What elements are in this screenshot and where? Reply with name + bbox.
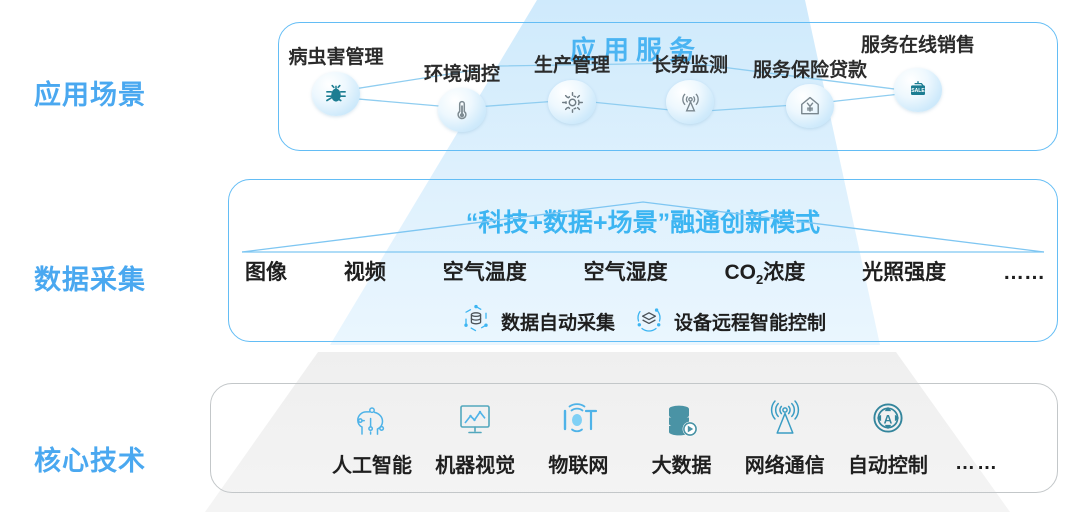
collection-feature-remote-control[interactable]: 设备远程智能控制 [633,303,826,340]
collection-feature-label: 设备远程智能控制 [674,308,826,335]
monitor-chart-icon [451,392,499,442]
technology-item-label: 人工智能 [332,449,412,478]
technology-item-label: 网络通信 [745,449,825,478]
application-item-label: 环境调控 [424,59,500,86]
database-hex-icon [460,303,492,340]
technology-item-bigdata[interactable]: 大数据 [640,392,724,478]
technology-trailing-ellipsis: …… [955,452,999,475]
layers-orbit-icon [633,303,665,340]
technology-item-label: 自动控制 [848,449,928,478]
infographic-canvas: 应用场景 数据采集 核心技术 应用服务 病虫害管理 环境调控 [0,0,1080,512]
technology-item-label: 机器视觉 [435,449,515,478]
technology-item-auto-control[interactable]: A 自动控制 [846,392,930,478]
technology-item-label: 物联网 [548,449,608,478]
technology-item-ai[interactable]: 人工智能 [330,392,414,478]
collection-feature-auto-collect[interactable]: 数据自动采集 [460,303,615,340]
application-item-label: 服务在线销售 [861,30,975,57]
antenna-waves-icon [761,392,809,442]
application-item-label: 生产管理 [534,50,610,77]
collection-tag: 视频 [344,256,386,286]
collection-tag-ellipsis: …… [1003,261,1045,285]
technology-item-network[interactable]: 网络通信 [743,392,827,478]
technology-item-label: 大数据 [652,449,712,478]
house-yuan-icon [786,84,834,128]
row-label-collection: 数据采集 [34,258,146,297]
bug-icon [312,72,360,116]
auto-control-icon: A [864,392,912,442]
svg-text:SALE: SALE [911,88,925,94]
collection-tag: 图像 [245,256,287,286]
collection-tag-row: 图像 视频 空气温度 空气湿度 CO2浓度 光照强度 …… [245,256,1045,287]
signal-tower-icon [666,80,714,124]
sale-tag-icon: SALE [894,68,942,112]
collection-tag: 空气温度 [443,256,527,286]
technology-item-iot[interactable]: 物联网 [536,392,620,478]
iot-icon [554,392,602,442]
row-label-technology: 核心技术 [34,439,146,478]
ai-head-icon [348,392,396,442]
gear-icon [548,80,596,124]
thermometer-icon [438,88,486,132]
collection-feature-label: 数据自动采集 [501,308,615,335]
collection-feature-row: 数据自动采集 设备远程智能控制 [228,303,1058,340]
big-data-icon [658,392,706,442]
application-item-label: 病虫害管理 [288,42,383,69]
collection-tag: 光照强度 [862,256,946,286]
technology-row: 人工智能 机器视觉 [330,392,930,478]
application-item-label: 长势监测 [652,50,728,77]
application-item-label: 服务保险贷款 [753,55,867,82]
collection-tag: 空气湿度 [584,256,668,286]
svg-text:A: A [884,412,893,426]
collection-tag-co2: CO2浓度 [725,256,806,287]
technology-item-vision[interactable]: 机器视觉 [433,392,517,478]
